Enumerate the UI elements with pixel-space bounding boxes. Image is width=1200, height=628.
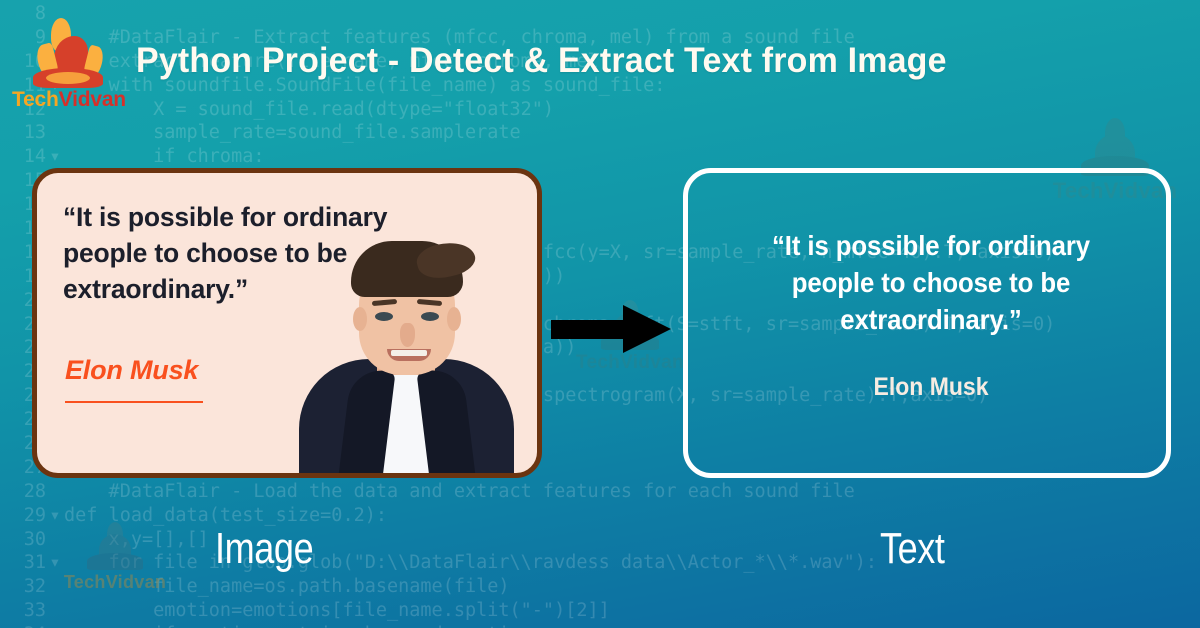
poster-canvas: 8 9 #DataFlair - Extract features (mfcc,… (0, 0, 1200, 628)
meditating-figure-icon (32, 18, 104, 86)
code-line: 31▾ for file in glob.glob("D:\\DataFlair… (0, 551, 1200, 575)
code-line: 28 #DataFlair - Load the data and extrac… (0, 480, 1200, 504)
code-line: 13 sample_rate=sound_file.samplerate (0, 121, 1200, 145)
code-line: 30 x,y=[],[] (0, 528, 1200, 552)
code-line: 14▾ if chroma: (0, 145, 1200, 169)
code-line: 34▾ if emotion not in observed_emotions: (0, 623, 1200, 628)
elon-musk-portrait (271, 203, 541, 473)
right-arrow-icon (551, 305, 671, 353)
image-card: “It is possible for ordinary people to c… (32, 168, 542, 478)
techvidvan-logo[interactable]: TechVidvan (12, 16, 124, 112)
text-card: “It is possible for ordinary people to c… (683, 168, 1171, 478)
code-line: 8 (0, 2, 1200, 26)
watermark-bottom-left: TechVidvan (40, 522, 190, 593)
text-card-quote: “It is possible for ordinary people to c… (739, 227, 1124, 338)
text-card-author: Elon Musk (739, 373, 1124, 402)
page-title: Python Project - Detect & Extract Text f… (136, 36, 1106, 86)
watermark-label: TechVidvan (40, 572, 190, 593)
code-line: 29▾def load_data(test_size=0.2): (0, 504, 1200, 528)
label-text: Text (880, 524, 945, 574)
logo-wordmark: TechVidvan (12, 88, 124, 112)
code-line: 12 X = sound_file.read(dtype="float32") (0, 98, 1200, 122)
image-card-author: Elon Musk (65, 355, 198, 386)
code-line: 32 file_name=os.path.basename(file) (0, 575, 1200, 599)
logo-text-vidvan: Vidvan (59, 88, 126, 111)
label-image: Image (215, 524, 313, 574)
logo-text-tech: Tech (12, 88, 59, 111)
author-underline (65, 401, 203, 403)
code-line: 33 emotion=emotions[file_name.split("-")… (0, 599, 1200, 623)
